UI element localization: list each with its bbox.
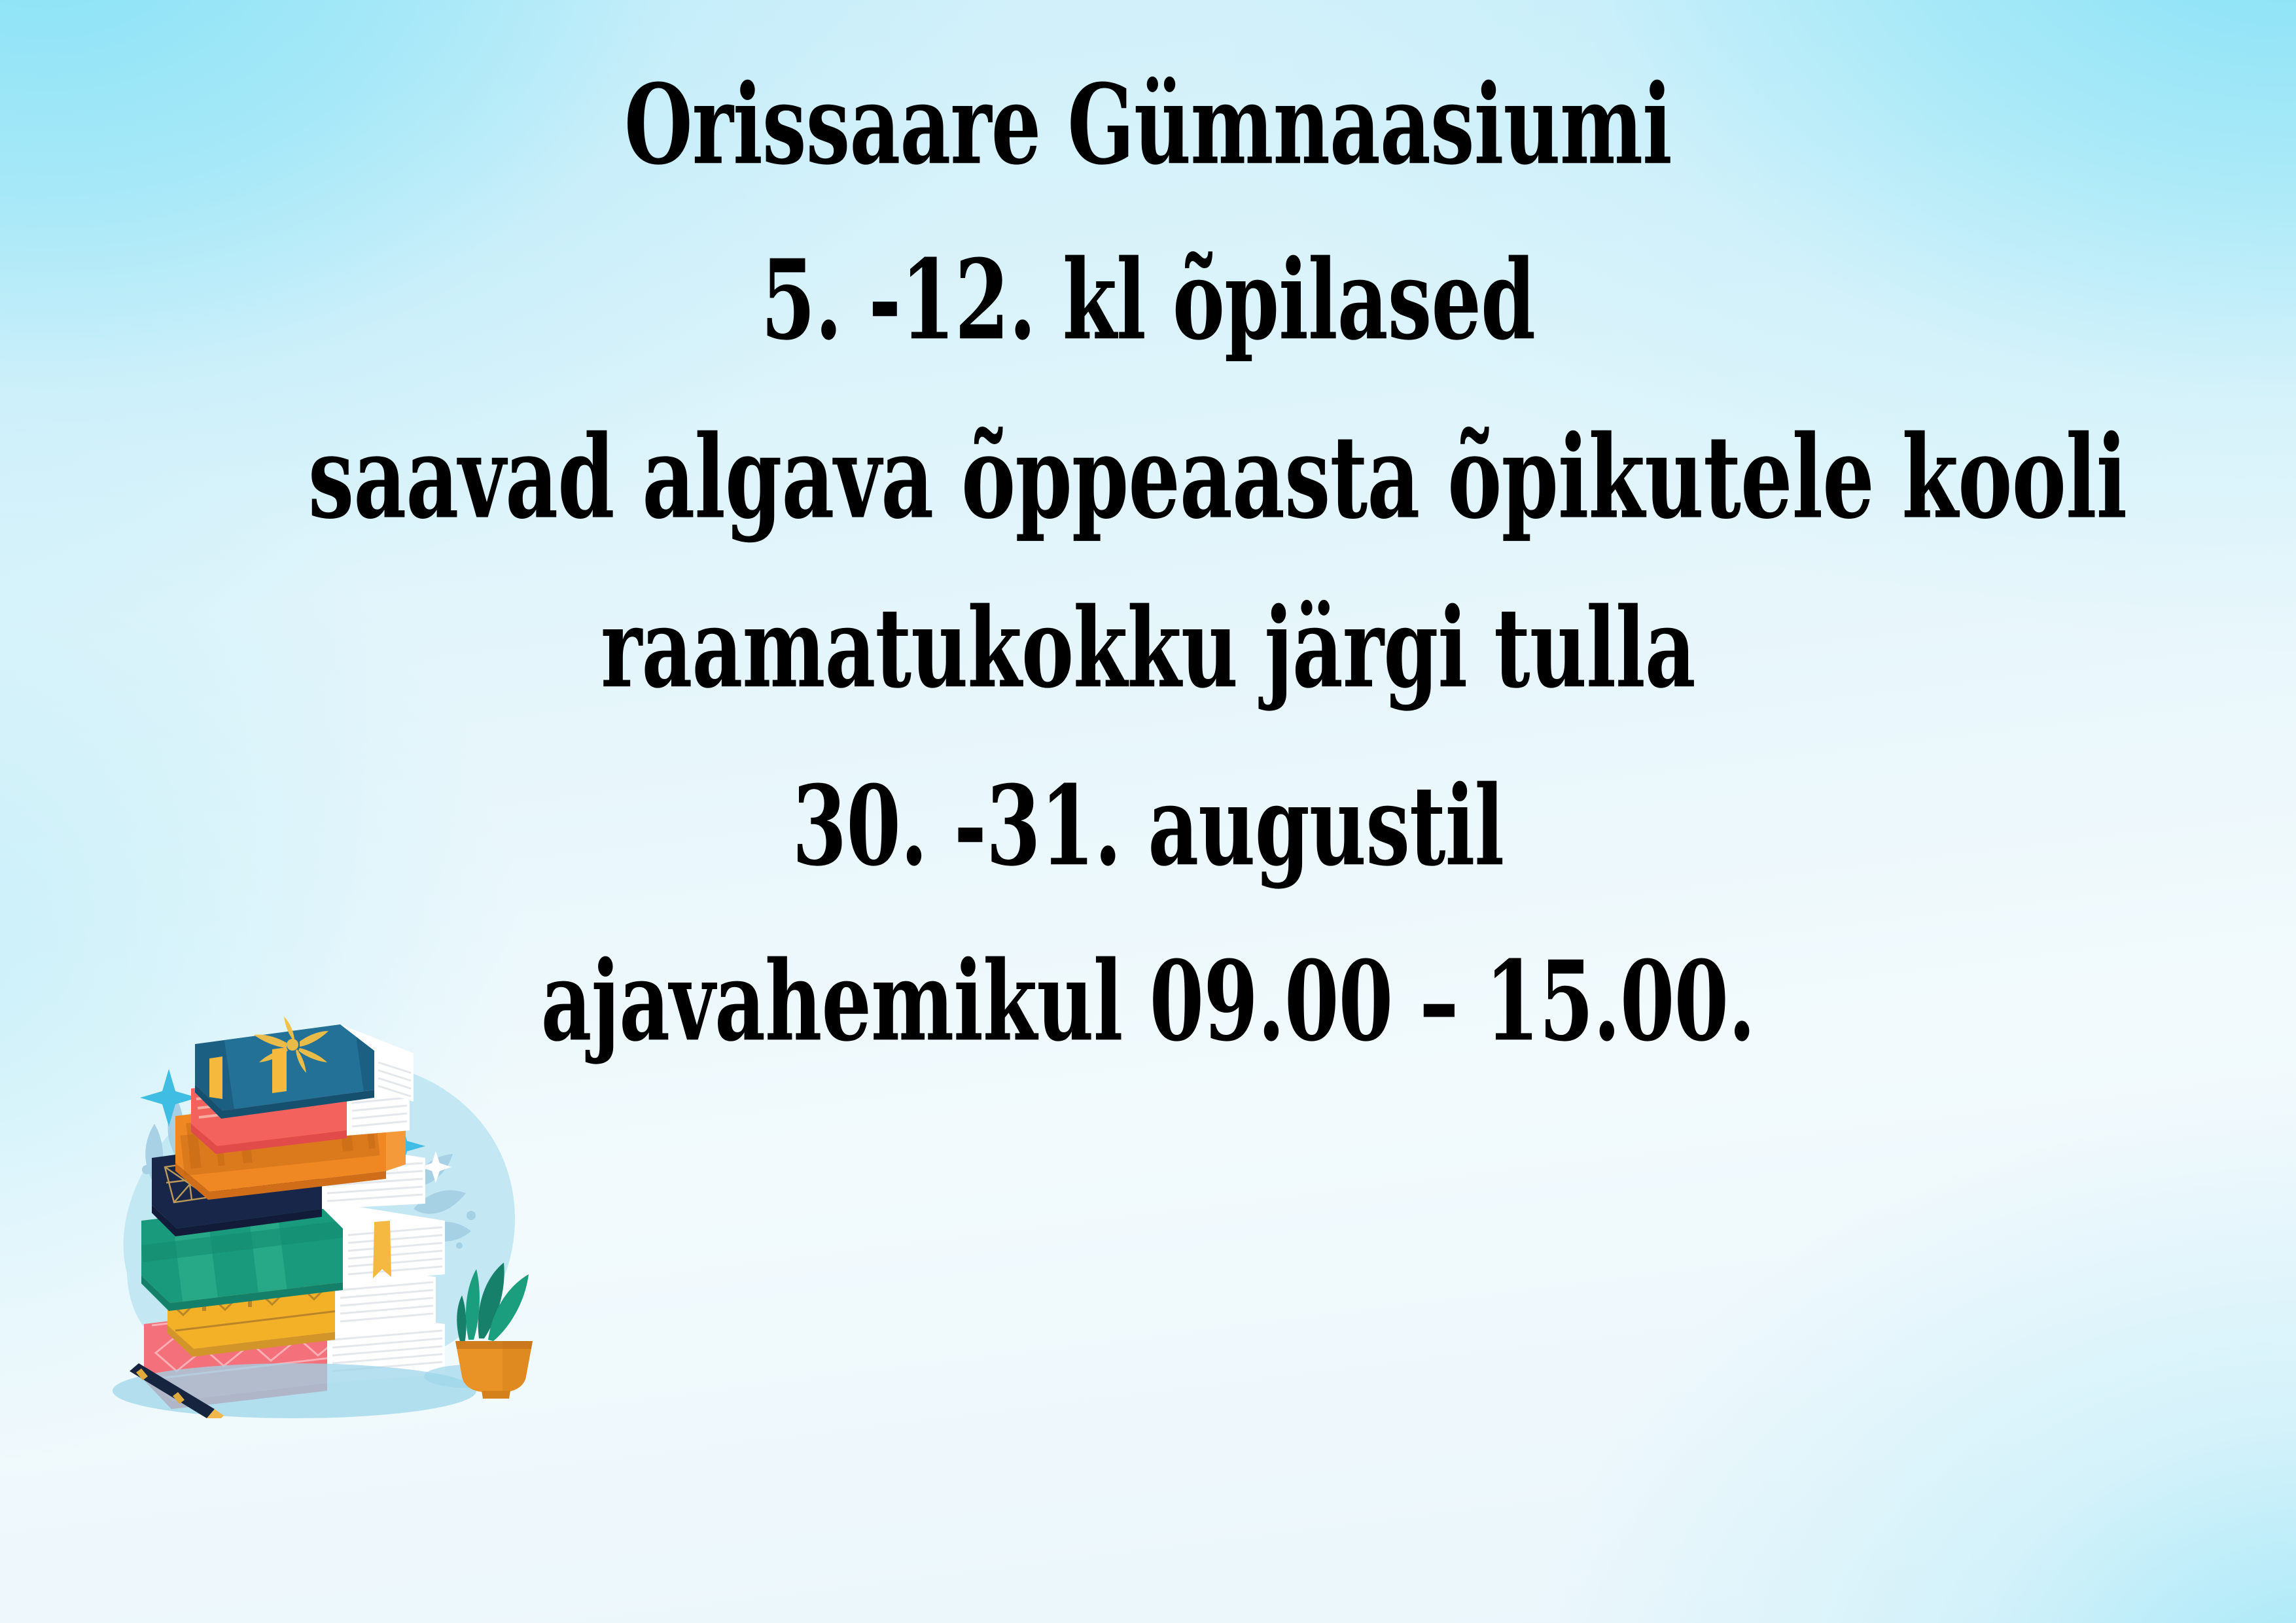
book-stack-illustration (79, 1013, 550, 1418)
poster-line-5: 30. -31. augustil (308, 771, 1988, 881)
poster-line-4: raamatukokku järgi tulla (308, 593, 1988, 703)
poster-line-6: ajavahemikul 09.00 – 15.00. (308, 947, 1988, 1056)
poster-line-3: saavad algava õppeaasta õpikutele kooli (308, 421, 1988, 535)
poster-canvas: Orissaare Gümnaasiumi 5. -12. kl õpilase… (0, 0, 2296, 1623)
poster-line-1: Orissaare Gümnaasiumi (308, 70, 1988, 180)
book-band-icon (272, 1047, 287, 1093)
poster-line-2: 5. -12. kl õpilased (308, 245, 1988, 355)
book-band-icon (209, 1056, 222, 1099)
